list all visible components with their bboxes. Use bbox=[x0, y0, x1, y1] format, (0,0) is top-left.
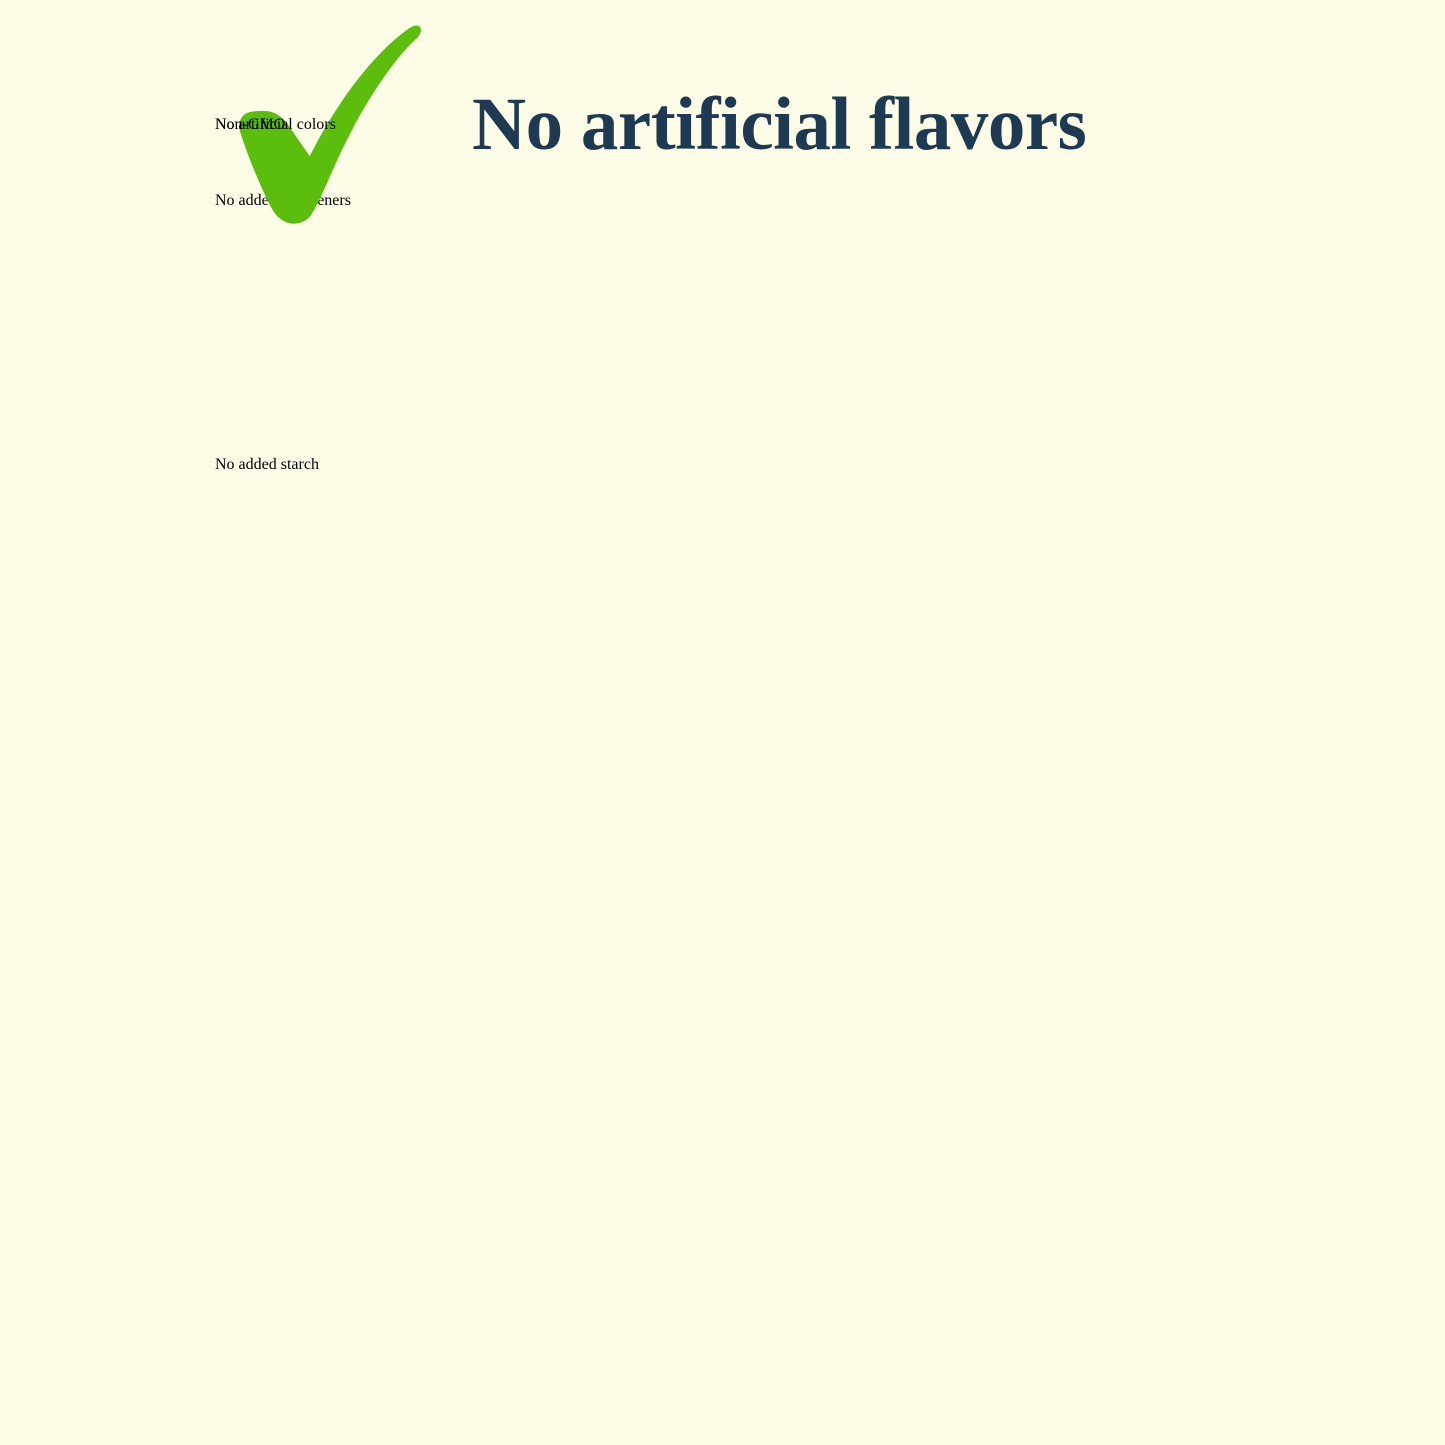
benefit-label: Non-GMO bbox=[215, 116, 285, 133]
label-cell: No added starch bbox=[215, 456, 319, 474]
label-cell: Non-GMO bbox=[215, 116, 285, 134]
benefit-list-item: Non-GMO bbox=[215, 0, 1200, 250]
benefit-list-item: No added starch bbox=[215, 340, 1200, 590]
product-benefits-panel: No added sweeteners No added starch bbox=[0, 0, 1445, 1445]
benefit-list: No added sweeteners No added starch bbox=[0, 0, 1445, 1445]
benefit-label: No added starch bbox=[215, 456, 319, 473]
